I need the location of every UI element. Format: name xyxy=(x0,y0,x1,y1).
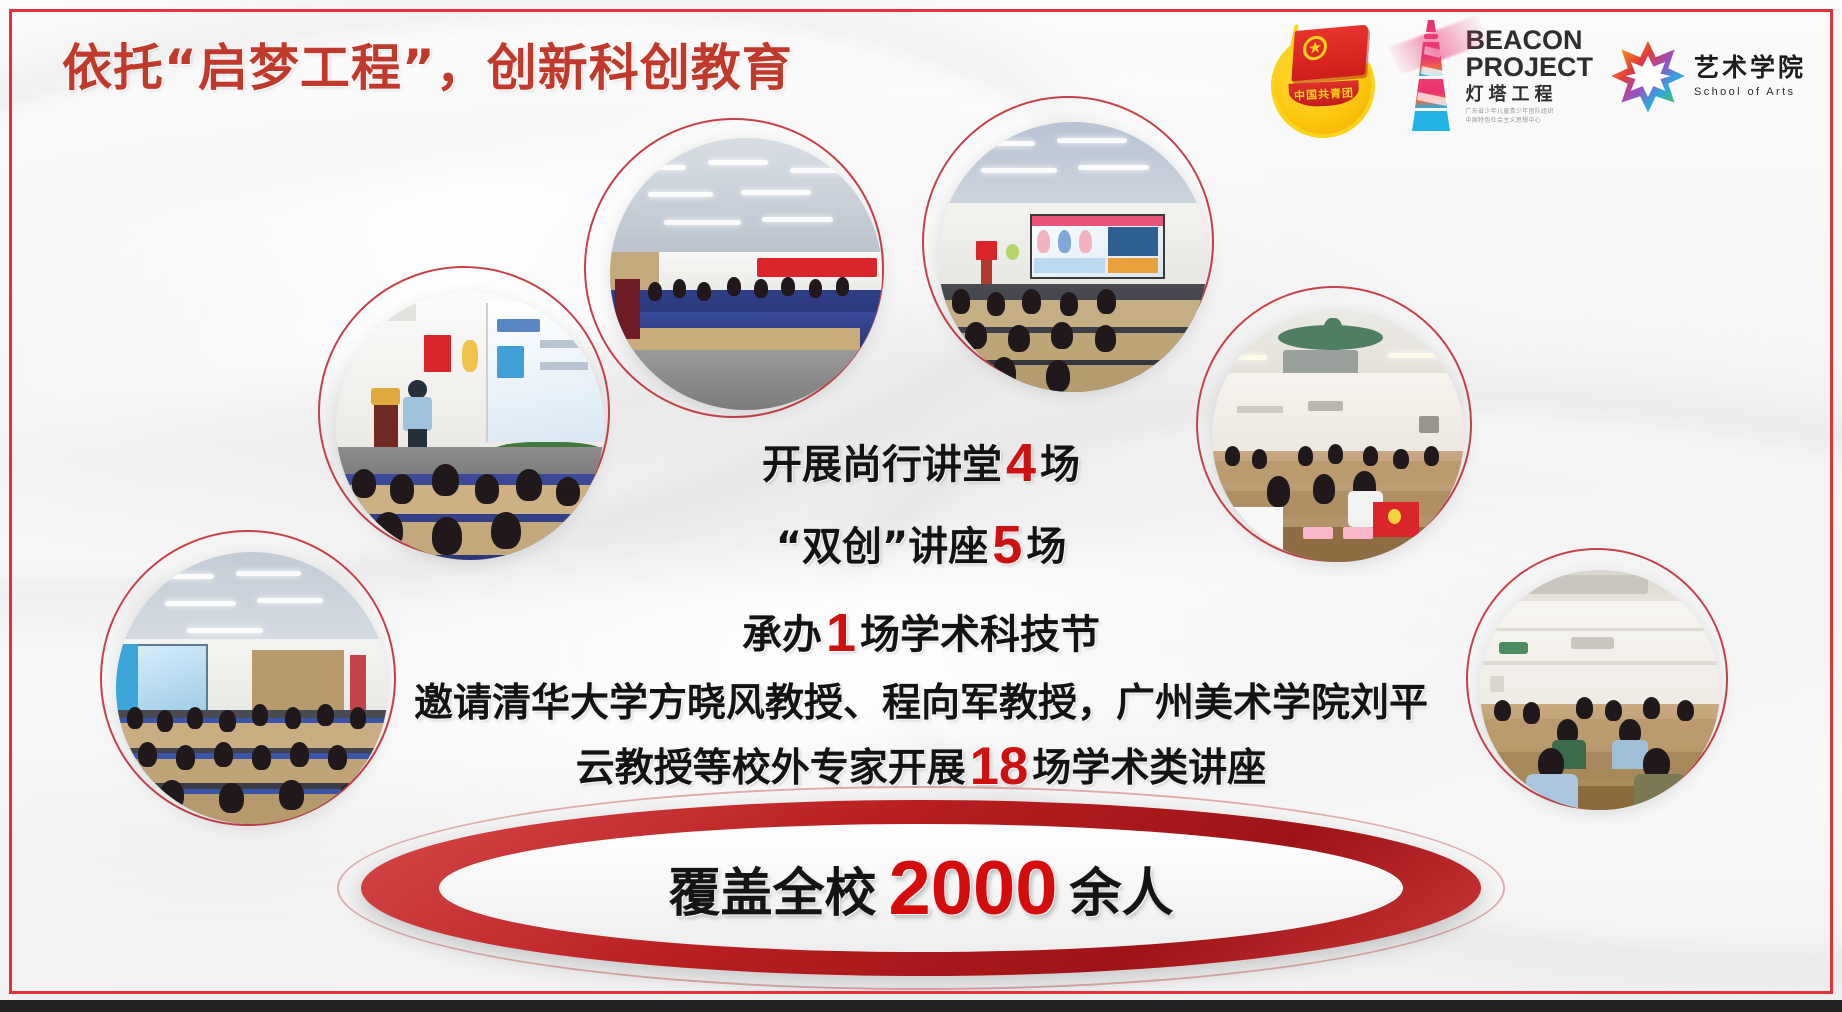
beacon-cn-label: 灯塔工程 xyxy=(1465,86,1593,104)
colorful-burst-icon xyxy=(1609,37,1687,115)
school-of-arts-logo: 艺术学院 School of Arts xyxy=(1609,37,1806,115)
stat-line-5: 云教授等校外专家开展18场学术类讲座 xyxy=(341,736,1501,797)
stat-line-3: 承办1场学术科技节 xyxy=(341,602,1501,664)
banner-text: 覆盖全校2000余人 xyxy=(361,800,1481,976)
coverage-banner: 覆盖全校2000余人 xyxy=(361,800,1481,976)
beacon-project-logo: BEACON PROJECT 灯塔工程 广东省少年儿童青少年团队组织 中国特色社… xyxy=(1403,16,1593,136)
arts-cn-label: 艺术学院 xyxy=(1694,55,1806,80)
banner-prefix: 覆盖全校 xyxy=(668,851,876,926)
stats-text-block: 开展尚行讲堂4场 “双创”讲座5场 承办1场学术科技节 邀请清华大学方晓风教授、… xyxy=(341,432,1501,797)
stat-5-value: 18 xyxy=(970,737,1029,796)
photo-lecture-hall-screen xyxy=(938,122,1208,392)
stat-1-suffix: 场 xyxy=(1040,442,1080,488)
stat-1-prefix: 开展尚行讲堂 xyxy=(762,442,1002,488)
beacon-en-line2: PROJECT xyxy=(1465,54,1593,81)
banner-value: 2000 xyxy=(888,845,1057,932)
stat-3-value: 1 xyxy=(826,603,856,663)
lighthouse-icon xyxy=(1403,16,1457,136)
beacon-sub-line1: 广东省少年儿童青少年团队组织 xyxy=(1465,108,1593,116)
stat-5-suffix: 场学术类讲座 xyxy=(1032,746,1266,791)
stat-2-suffix: 场 xyxy=(1026,524,1066,570)
photo-seminar-room xyxy=(1480,570,1720,810)
arts-en-label: School of Arts xyxy=(1694,87,1806,98)
banner-suffix: 余人 xyxy=(1070,851,1174,926)
stat-line-1: 开展尚行讲堂4场 xyxy=(341,432,1501,494)
stat-line-2: “双创”讲座5场 xyxy=(341,514,1501,576)
stat-1-value: 4 xyxy=(1006,433,1036,493)
photo-lecture-hall-blue-seats xyxy=(610,138,882,410)
stat-2-prefix: “双创”讲座 xyxy=(776,524,989,570)
stat-2-value: 5 xyxy=(992,515,1022,575)
communist-youth-league-emblem-icon: ★ 中国共青团 xyxy=(1259,12,1387,140)
stat-3-prefix: 承办 xyxy=(742,612,822,658)
beacon-sub-line2: 中国特色社会主义思想中心 xyxy=(1465,117,1593,125)
logo-group: ★ 中国共青团 xyxy=(1259,12,1806,140)
stat-line-4: 邀请清华大学方晓风教授、程向军教授，广州美术学院刘平 xyxy=(341,672,1501,728)
bottom-dark-strip xyxy=(0,1000,1842,1012)
stat-5-prefix: 云教授等校外专家开展 xyxy=(576,746,966,791)
slide-root: 依托“启梦工程”，创新科创教育 ★ 中国共青团 xyxy=(0,0,1842,1012)
page-title: 依托“启梦工程”，创新科创教育 xyxy=(62,28,793,100)
stat-3-suffix: 场学术科技节 xyxy=(860,612,1100,658)
